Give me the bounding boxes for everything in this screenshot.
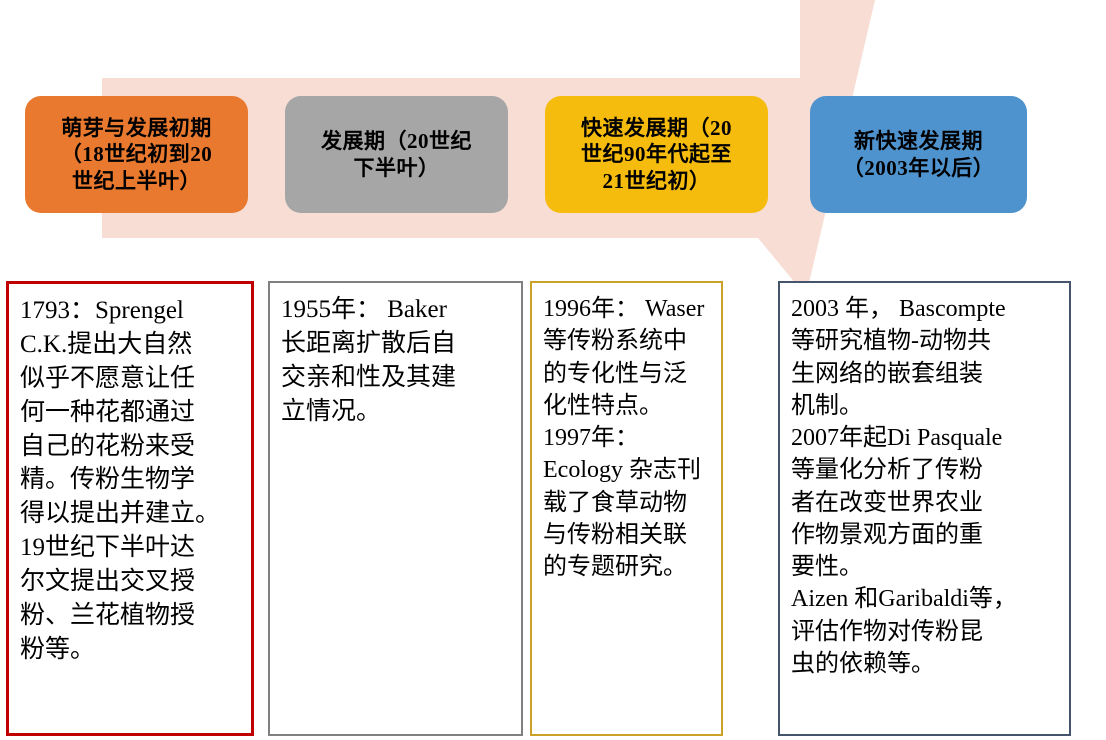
phase-label-rapid-development: 快速发展期（20 世纪90年代起至 21世纪初） [581, 115, 732, 194]
diagram-canvas: 萌芽与发展初期 （18世纪初到20 世纪上半叶） 发展期（20世纪 下半叶） 快… [0, 0, 1106, 740]
phase-box-new-rapid-development[interactable]: 新快速发展期 （2003年以后） [810, 96, 1027, 213]
phase-box-emergence[interactable]: 萌芽与发展初期 （18世纪初到20 世纪上半叶） [25, 96, 248, 213]
detail-box-development[interactable]: 1955年： Baker 长距离扩散后自 交亲和性及其建 立情况。 [268, 281, 523, 736]
detail-box-emergence[interactable]: 1793：Sprengel C.K.提出大自然 似乎不愿意让任 何一种花都通过 … [6, 281, 254, 736]
detail-text-new-rapid-development: 2003 年， Bascompte 等研究植物-动物共 生网络的嵌套组装 机制。… [791, 293, 1058, 680]
detail-box-rapid-development[interactable]: 1996年： Waser 等传粉系统中 的专化性与泛 化性特点。 1997年： … [530, 281, 723, 736]
detail-text-emergence: 1793：Sprengel C.K.提出大自然 似乎不愿意让任 何一种花都通过 … [20, 294, 240, 667]
phase-label-emergence: 萌芽与发展初期 （18世纪初到20 世纪上半叶） [61, 115, 213, 194]
detail-text-development: 1955年： Baker 长距离扩散后自 交亲和性及其建 立情况。 [281, 293, 510, 429]
detail-text-rapid-development: 1996年： Waser 等传粉系统中 的专化性与泛 化性特点。 1997年： … [543, 293, 710, 583]
phase-box-rapid-development[interactable]: 快速发展期（20 世纪90年代起至 21世纪初） [545, 96, 768, 213]
phase-box-development[interactable]: 发展期（20世纪 下半叶） [285, 96, 508, 213]
phase-label-development: 发展期（20世纪 下半叶） [321, 128, 472, 181]
phase-label-new-rapid-development: 新快速发展期 （2003年以后） [843, 128, 995, 181]
detail-box-new-rapid-development[interactable]: 2003 年， Bascompte 等研究植物-动物共 生网络的嵌套组装 机制。… [778, 281, 1071, 736]
